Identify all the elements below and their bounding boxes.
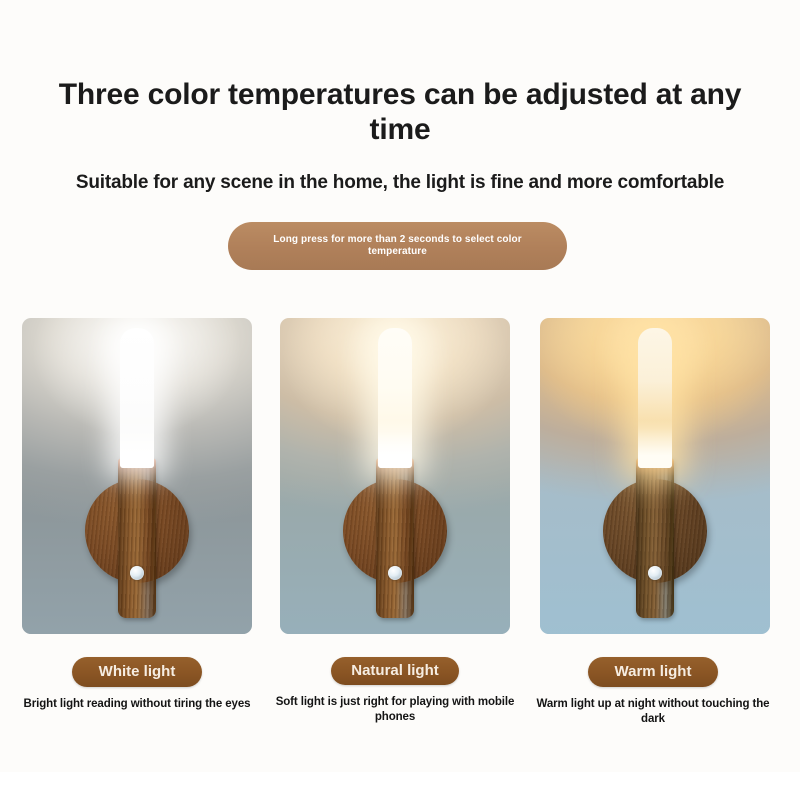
- tube-hotspot: [120, 420, 154, 468]
- mode-label-natural-light: Natural light: [331, 657, 459, 685]
- instruction-banner-text: Long press for more than 2 seconds to se…: [250, 234, 545, 259]
- light-tube: [638, 328, 672, 468]
- page-title: Three color temperatures can be adjusted…: [50, 78, 750, 148]
- tube-hotspot: [378, 420, 412, 468]
- sensor-dot-icon: [130, 566, 144, 580]
- product-photo-row: [0, 318, 800, 636]
- tube-hotspot: [638, 420, 672, 468]
- wood-body: [118, 458, 156, 618]
- light-tube: [378, 328, 412, 468]
- page-subtitle: Suitable for any scene in the home, the …: [30, 172, 770, 194]
- mode-description-white-light: Bright light reading without tiring the …: [7, 697, 267, 711]
- caption-warm-light: Warm light Warm light up at night withou…: [523, 657, 783, 726]
- wood-body: [376, 458, 414, 618]
- caption-natural-light: Natural light Soft light is just right f…: [265, 657, 525, 724]
- light-tube: [120, 328, 154, 468]
- mode-description-natural-light: Soft light is just right for playing wit…: [265, 695, 525, 724]
- wood-body: [636, 458, 674, 618]
- sensor-dot-icon: [388, 566, 402, 580]
- mode-label-warm-light: Warm light: [588, 657, 718, 687]
- product-photo-warm-light: [540, 318, 770, 634]
- caption-white-light: White light Bright light reading without…: [7, 657, 267, 712]
- product-photo-natural-light: [280, 318, 510, 634]
- sensor-dot-icon: [648, 566, 662, 580]
- product-photo-white-light: [22, 318, 252, 634]
- instruction-banner: Long press for more than 2 seconds to se…: [228, 222, 567, 270]
- mode-label-white-light: White light: [72, 657, 202, 687]
- product-feature-page: Three color temperatures can be adjusted…: [0, 0, 800, 800]
- mode-description-warm-light: Warm light up at night without touching …: [523, 697, 783, 726]
